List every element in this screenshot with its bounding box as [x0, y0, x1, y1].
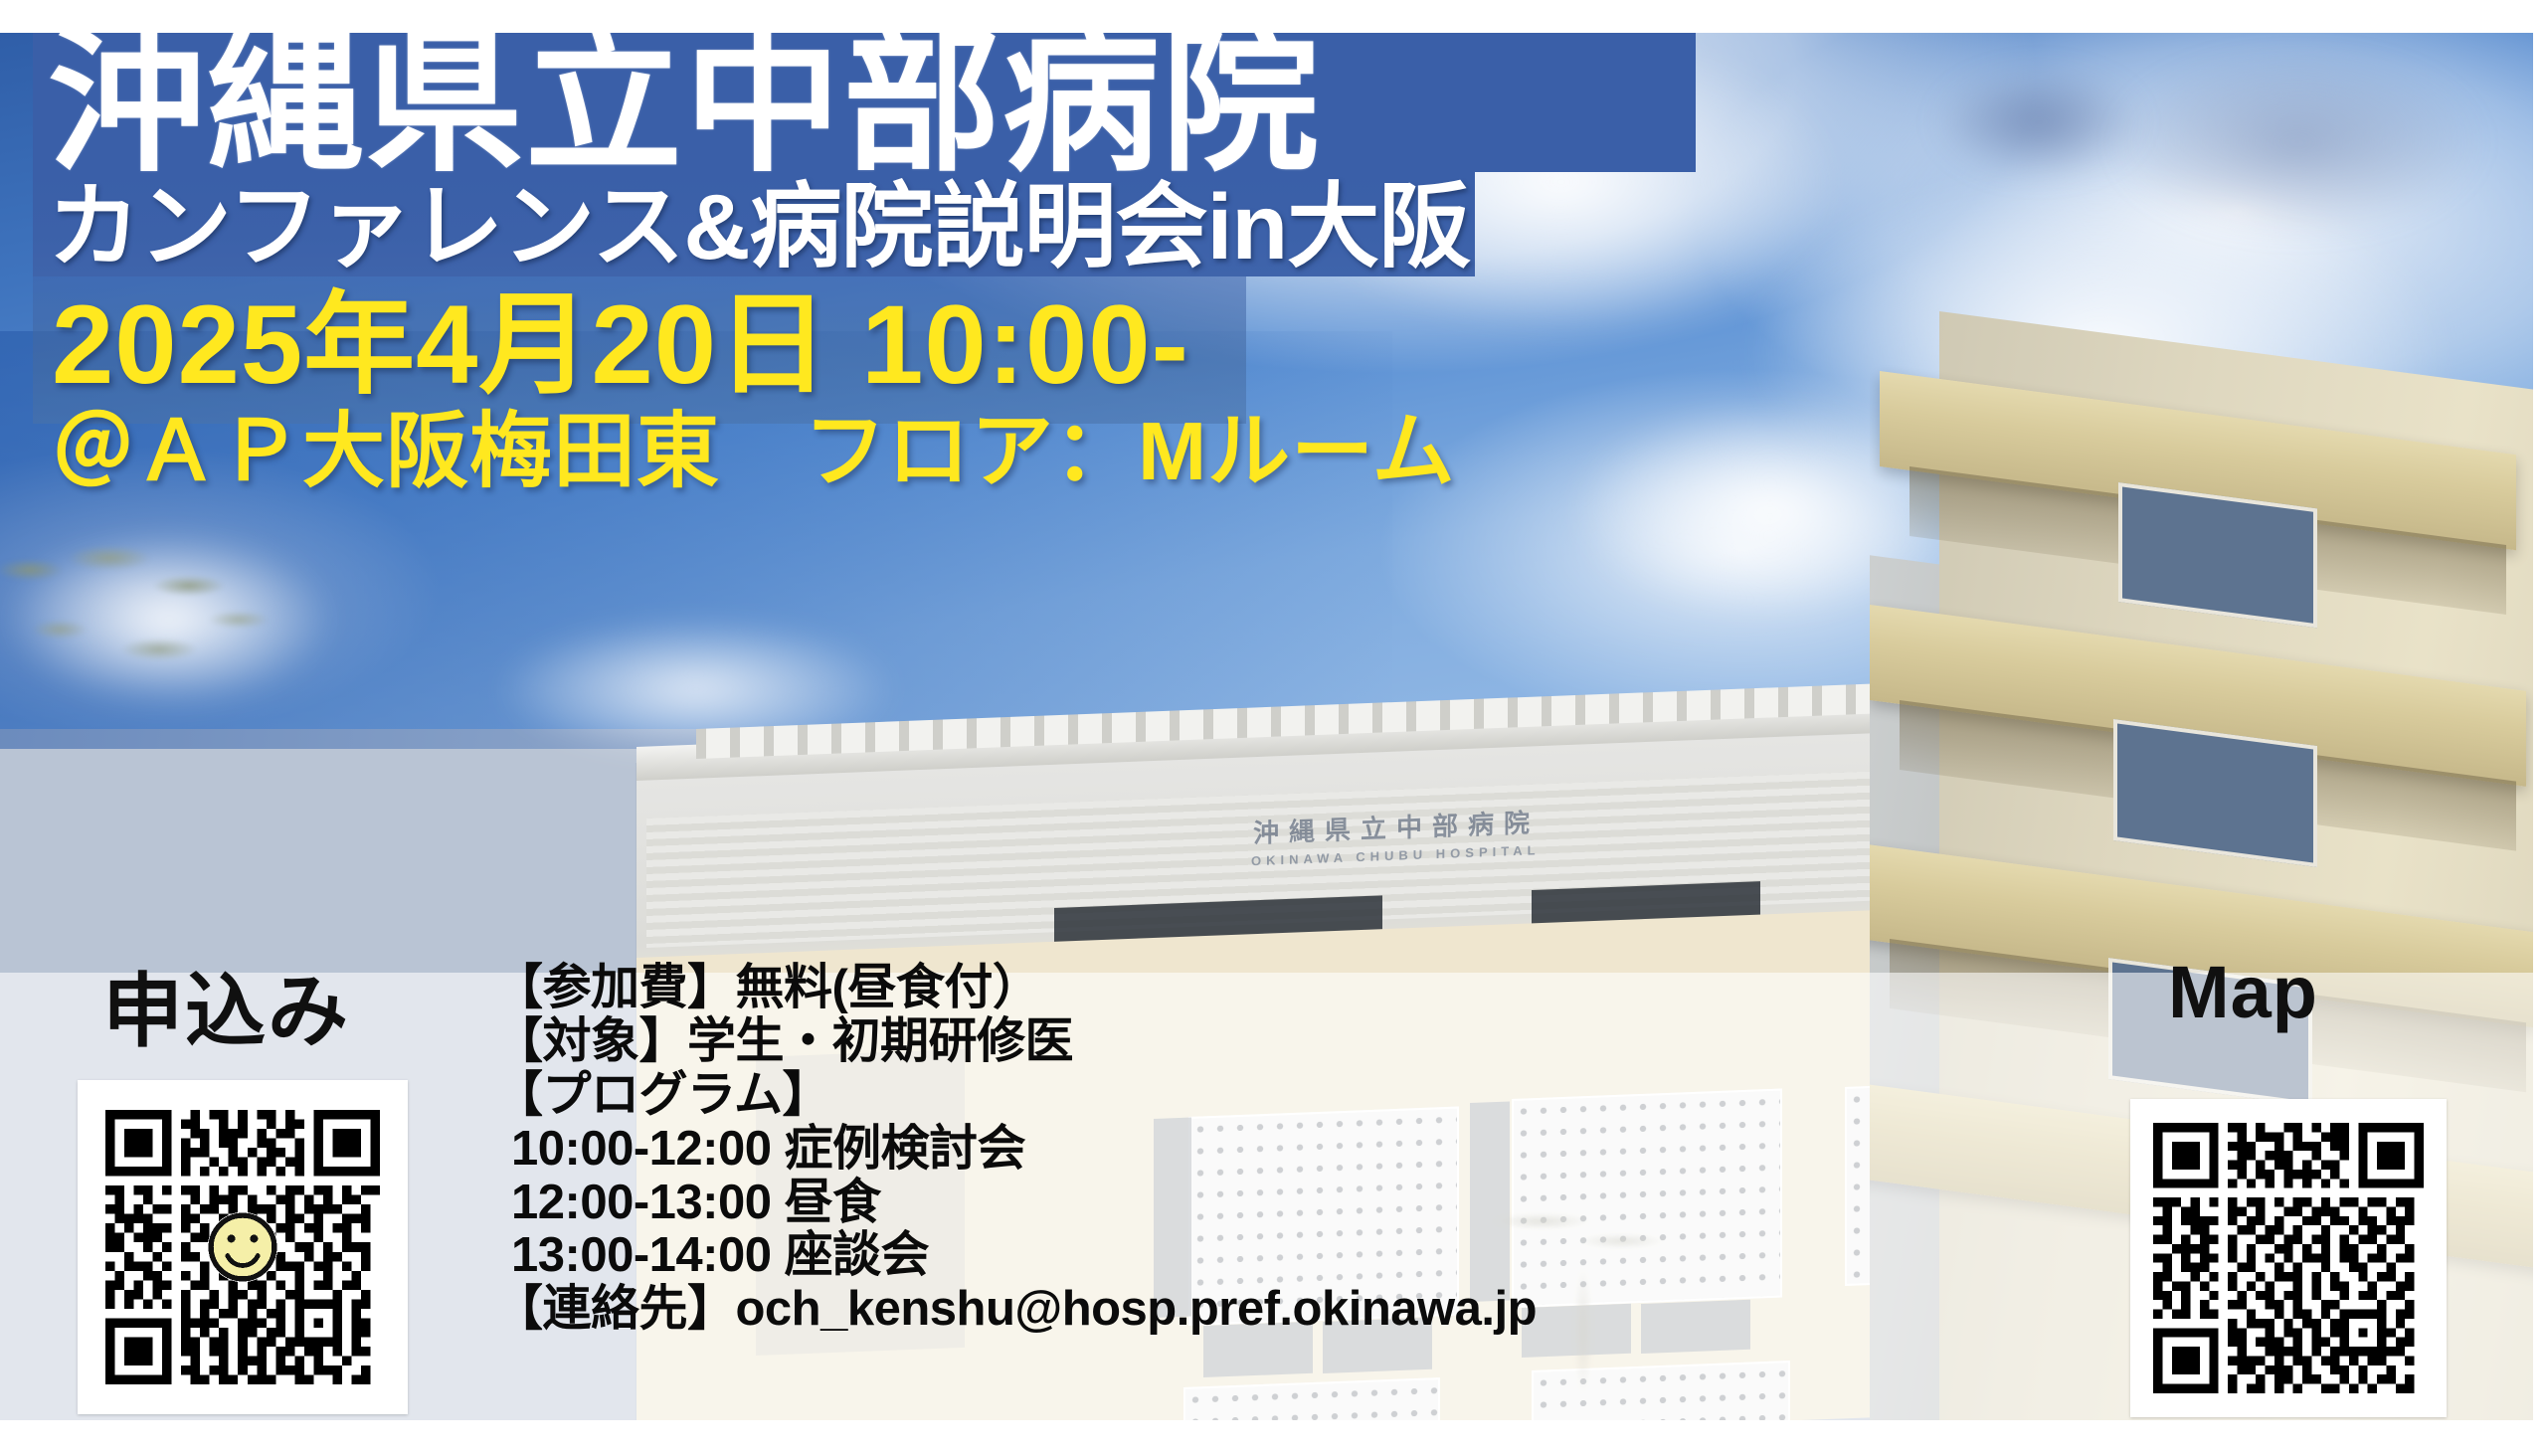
margin-bottom [0, 1420, 2546, 1456]
map-qr-card[interactable] [2130, 1099, 2447, 1417]
info-line-session-1: 10:00-12:00 症例検討会 [494, 1123, 1887, 1177]
event-datetime: 2025年4月20日 10:00- [52, 286, 1189, 404]
application-qr-card[interactable] [78, 1080, 408, 1414]
info-line-contact: 【連絡先】och_kenshu@hosp.pref.okinawa.jp [494, 1283, 1887, 1337]
foliage-silhouette [0, 540, 298, 729]
info-line-fee: 【参加費】無料(昼食付） [494, 962, 1887, 1015]
map-heading: Map [2168, 950, 2318, 1034]
poster-root: 沖縄県立中部病院 OKINAWA CHUBU HOSPITAL [0, 0, 2546, 1456]
event-info-block: 【参加費】無料(昼食付） 【対象】学生・初期研修医 【プログラム】 10:00-… [494, 962, 1887, 1337]
info-line-audience: 【対象】学生・初期研修医 [494, 1015, 1887, 1069]
info-line-session-2: 12:00-13:00 昼食 [494, 1177, 1887, 1230]
info-line-session-3: 13:00-14:00 座談会 [494, 1229, 1887, 1283]
application-qr-code[interactable] [105, 1110, 380, 1384]
margin-right [2533, 0, 2546, 1456]
map-qr-code[interactable] [2153, 1123, 2424, 1393]
page-subtitle: カンファレンス&病院説明会in大阪 [48, 179, 1470, 276]
cloud-shape [1890, 43, 2188, 202]
margin-top [0, 0, 2546, 33]
event-venue: ＠ＡＰ大阪梅田東 フロア：Mルーム [52, 408, 1456, 494]
application-heading: 申込み [102, 947, 350, 1063]
page-title: 沖縄県立中部病院 [48, 18, 1321, 188]
smiley-face-icon [208, 1212, 277, 1282]
info-line-program: 【プログラム】 [494, 1069, 1887, 1123]
